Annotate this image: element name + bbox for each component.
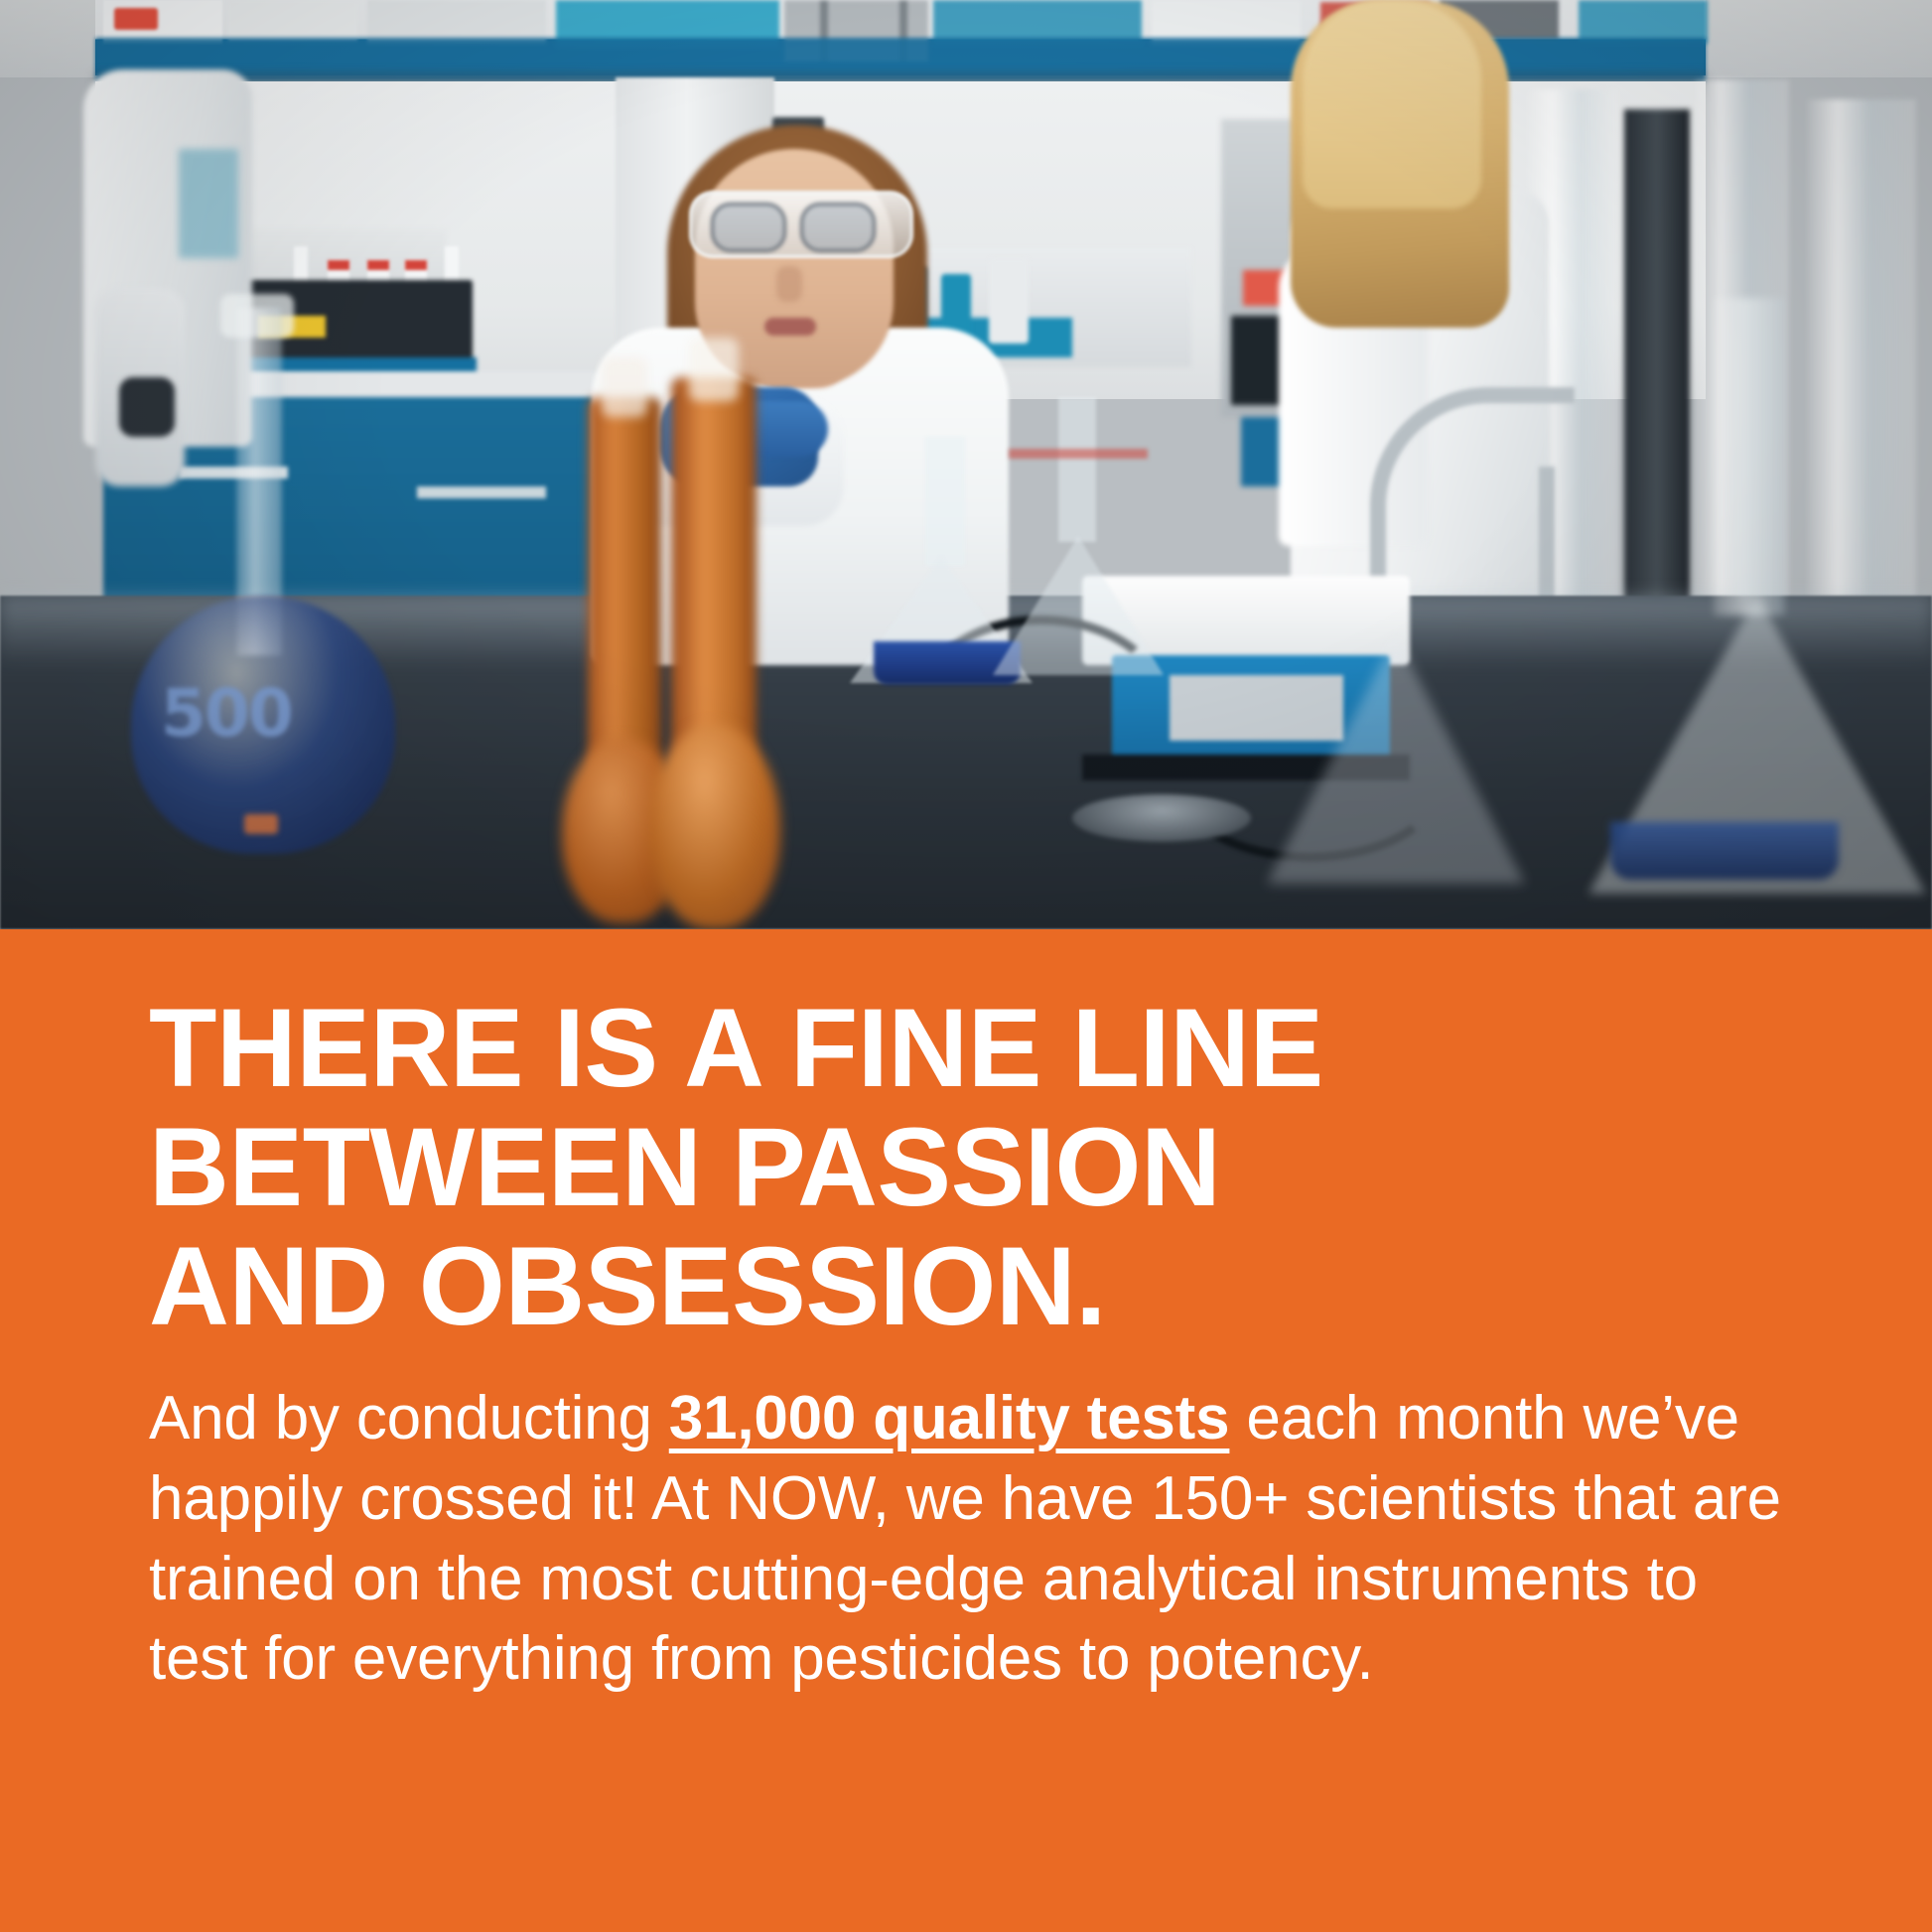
lab-photo: 500 [0, 0, 1932, 929]
page-headline: THERE IS A FINE LINE BETWEEN PASSION AND… [149, 989, 1797, 1345]
body-paragraph: And by conducting 31,000 quality tests e… [149, 1379, 1797, 1699]
panel-content: THERE IS A FINE LINE BETWEEN PASSION AND… [149, 989, 1797, 1700]
photo-vignette [0, 0, 1932, 929]
quality-tests-highlight: 31,000 quality tests [669, 1384, 1230, 1452]
orange-content-panel: THERE IS A FINE LINE BETWEEN PASSION AND… [0, 929, 1932, 1932]
promo-page: 500 THERE IS A FINE LINE BETWEEN PASSION… [0, 0, 1932, 1932]
body-lead-text: And by conducting [149, 1384, 669, 1452]
